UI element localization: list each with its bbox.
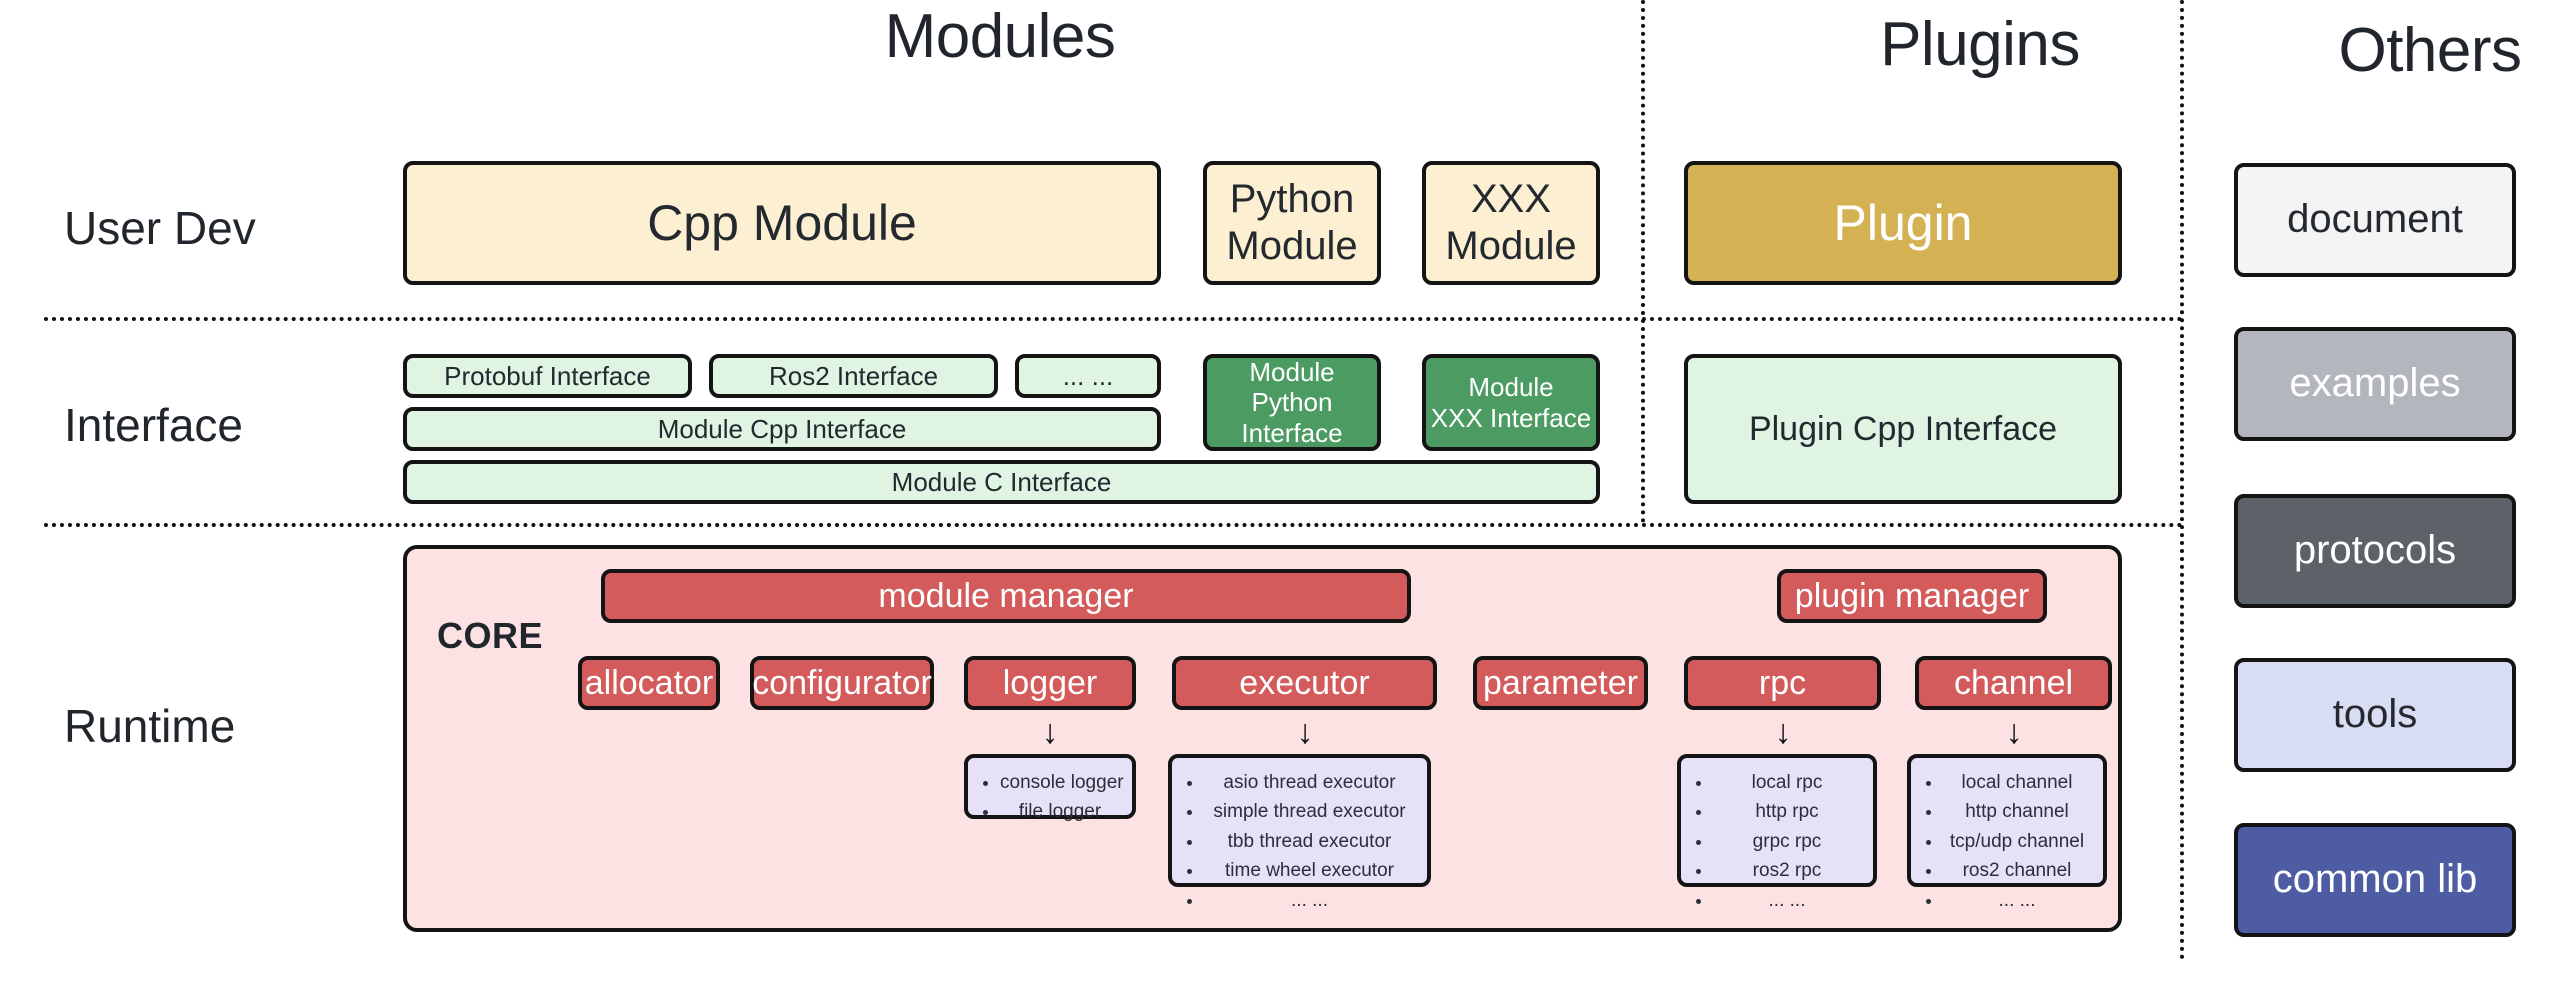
row-label-user-dev: User Dev [64, 205, 256, 251]
channel-detail-item: ros2 channel [1943, 856, 2091, 885]
column-title-others: Others [2190, 20, 2560, 82]
node-module-xxx-interface[interactable]: Module XXX Interface [1422, 354, 1600, 451]
logger-detail-item: file logger [1000, 797, 1120, 826]
node-channel[interactable]: channel [1915, 656, 2112, 710]
node-protocols[interactable]: protocols [2234, 494, 2516, 608]
node-examples[interactable]: examples [2234, 327, 2516, 441]
node-executor[interactable]: executor [1172, 656, 1437, 710]
node-python-module[interactable]: Python Module [1203, 161, 1381, 285]
node-plugin-manager[interactable]: plugin manager [1777, 569, 2047, 623]
node-module-python-interface[interactable]: Module Python Interface [1203, 354, 1381, 451]
executor-detail-item: asio thread executor [1204, 768, 1415, 797]
node-module-c-interface[interactable]: Module C Interface [403, 460, 1600, 504]
channel-detail-item: ... ... [1943, 886, 2091, 915]
channel-detail-item: http channel [1943, 797, 2091, 826]
node-common-lib[interactable]: common lib [2234, 823, 2516, 937]
channel-detail-item: tcp/udp channel [1943, 827, 2091, 856]
node-module-python-interface-line1: Module [1249, 357, 1334, 388]
channel-detail-item: local channel [1943, 768, 2091, 797]
rpc-detail-item: ros2 rpc [1713, 856, 1861, 885]
column-title-plugins: Plugins [1700, 14, 2260, 76]
arrow-logger-down: ↓ [1020, 715, 1080, 749]
node-module-xxx-interface-line2: XXX Interface [1431, 403, 1591, 434]
rpc-detail-item: ... ... [1713, 886, 1861, 915]
logger-detail-item: console logger [1000, 768, 1120, 797]
architecture-diagram: Modules Plugins Others User Dev Interfac… [0, 0, 2560, 984]
row-label-interface: Interface [64, 402, 243, 448]
node-logger[interactable]: logger [964, 656, 1136, 710]
node-configurator[interactable]: configurator [750, 656, 934, 710]
node-plugin-cpp-interface[interactable]: Plugin Cpp Interface [1684, 354, 2122, 504]
executor-detail-item: simple thread executor [1204, 797, 1415, 826]
node-rpc[interactable]: rpc [1684, 656, 1881, 710]
node-plugin[interactable]: Plugin [1684, 161, 2122, 285]
node-other-interface[interactable]: ... ... [1015, 354, 1161, 398]
node-module-python-interface-line2: Python Interface [1207, 387, 1377, 448]
node-parameter[interactable]: parameter [1473, 656, 1648, 710]
core-container: CORE module manager plugin manager alloc… [403, 545, 2122, 932]
row-label-runtime: Runtime [64, 703, 235, 749]
executor-detail-item: ... ... [1204, 886, 1415, 915]
channel-detail-box: local channel http channel tcp/udp chann… [1907, 754, 2107, 887]
node-cpp-module[interactable]: Cpp Module [403, 161, 1161, 285]
node-tools[interactable]: tools [2234, 658, 2516, 772]
separator-userdev-interface [44, 317, 2184, 321]
executor-detail-item: time wheel executor [1204, 856, 1415, 885]
node-xxx-module[interactable]: XXX Module [1422, 161, 1600, 285]
separator-plugins-others [2180, 0, 2184, 960]
core-label: CORE [437, 615, 543, 657]
arrow-channel-down: ↓ [1984, 715, 2044, 749]
separator-modules-plugins [1641, 0, 1645, 523]
rpc-detail-item: http rpc [1713, 797, 1861, 826]
rpc-detail-box: local rpc http rpc grpc rpc ros2 rpc ...… [1677, 754, 1877, 887]
node-allocator[interactable]: allocator [578, 656, 720, 710]
node-xxx-module-label-line2: Module [1445, 223, 1576, 270]
executor-detail-box: asio thread executor simple thread execu… [1168, 754, 1431, 887]
node-module-manager[interactable]: module manager [601, 569, 1411, 623]
executor-detail-item: tbb thread executor [1204, 827, 1415, 856]
logger-detail-box: console logger file logger [964, 754, 1136, 819]
arrow-rpc-down: ↓ [1753, 715, 1813, 749]
node-module-cpp-interface[interactable]: Module Cpp Interface [403, 407, 1161, 451]
node-python-module-label-line2: Module [1226, 223, 1357, 270]
rpc-detail-item: grpc rpc [1713, 827, 1861, 856]
rpc-detail-item: local rpc [1713, 768, 1861, 797]
node-document[interactable]: document [2234, 163, 2516, 277]
node-xxx-module-label-line1: XXX [1471, 176, 1551, 223]
node-ros2-interface[interactable]: Ros2 Interface [709, 354, 998, 398]
node-protobuf-interface[interactable]: Protobuf Interface [403, 354, 692, 398]
arrow-executor-down: ↓ [1275, 715, 1335, 749]
separator-interface-runtime [44, 523, 2184, 527]
column-title-modules: Modules [700, 6, 1300, 68]
node-python-module-label-line1: Python [1230, 176, 1355, 223]
node-module-xxx-interface-line1: Module [1468, 372, 1553, 403]
